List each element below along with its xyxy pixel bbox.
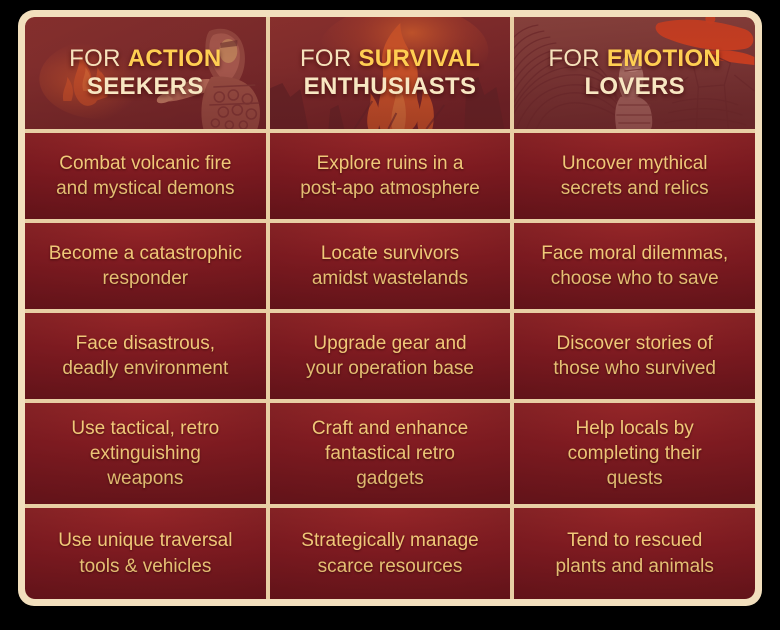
cell-survival-2[interactable]: Locate survivorsamidst wastelands (270, 223, 511, 309)
cell-survival-4[interactable]: Craft and enhancefantastical retrogadget… (270, 403, 511, 504)
column-header-action-title: FOR ACTION SEEKERS (61, 45, 229, 102)
cell-action-3[interactable]: Face disastrous,deadly environment (25, 313, 266, 399)
cell-text: Help locals bycompleting theirquests (556, 412, 714, 495)
cell-text: Use tactical, retroextinguishingweapons (59, 412, 231, 495)
cell-emotion-2[interactable]: Face moral dilemmas,choose who to save (514, 223, 755, 309)
cell-emotion-3[interactable]: Discover stories ofthose who survived (514, 313, 755, 399)
cell-survival-5[interactable]: Strategically managescarce resources (270, 508, 511, 599)
table-header-row: FOR ACTION SEEKERS (25, 17, 755, 129)
cell-text: Tend to rescuedplants and animals (543, 524, 725, 582)
cell-text: Use unique traversaltools & vehicles (46, 524, 244, 582)
header-secondline-action: SEEKERS (69, 73, 221, 101)
header-lead-survival: FOR (300, 45, 359, 72)
header-keyword-emotion: EMOTION (607, 45, 721, 72)
cell-action-5[interactable]: Use unique traversaltools & vehicles (25, 508, 266, 599)
cell-text: Upgrade gear andyour operation base (294, 327, 486, 385)
header-lead-action: FOR (69, 45, 128, 72)
header-secondline-emotion: LOVERS (548, 73, 721, 101)
cell-text: Face moral dilemmas,choose who to save (529, 237, 740, 295)
cell-survival-3[interactable]: Upgrade gear andyour operation base (270, 313, 511, 399)
column-header-action[interactable]: FOR ACTION SEEKERS (25, 17, 266, 129)
cell-text: Craft and enhancefantastical retrogadget… (300, 412, 480, 495)
cell-action-4[interactable]: Use tactical, retroextinguishingweapons (25, 403, 266, 504)
comparison-table: FOR ACTION SEEKERS (25, 17, 755, 599)
cell-text: Become a catastrophicresponder (37, 237, 254, 295)
cell-action-1[interactable]: Combat volcanic fireand mystical demons (25, 133, 266, 219)
header-secondline-survival: ENTHUSIASTS (300, 73, 480, 101)
cell-survival-1[interactable]: Explore ruins in apost-apo atmosphere (270, 133, 511, 219)
cell-emotion-1[interactable]: Uncover mythicalsecrets and relics (514, 133, 755, 219)
table-row: Combat volcanic fireand mystical demons … (25, 133, 755, 219)
column-header-survival[interactable]: FOR SURVIVAL ENTHUSIASTS (270, 17, 511, 129)
cell-text: Strategically managescarce resources (289, 524, 490, 582)
poster-frame: FOR ACTION SEEKERS (18, 10, 762, 606)
table-row: Use unique traversaltools & vehicles Str… (25, 508, 755, 599)
header-keyword-survival: SURVIVAL (359, 45, 481, 72)
column-header-emotion-title: FOR EMOTION LOVERS (540, 45, 729, 102)
cell-text: Locate survivorsamidst wastelands (300, 237, 480, 295)
cell-text: Face disastrous,deadly environment (50, 327, 240, 385)
cell-text: Explore ruins in apost-apo atmosphere (288, 147, 492, 205)
screenshot-root: FOR ACTION SEEKERS (0, 0, 780, 630)
column-header-emotion[interactable]: FOR EMOTION LOVERS (514, 17, 755, 129)
header-lead-emotion: FOR (548, 45, 607, 72)
cell-text: Uncover mythicalsecrets and relics (549, 147, 721, 205)
table-row: Face disastrous,deadly environment Upgra… (25, 313, 755, 399)
cell-text: Discover stories ofthose who survived (541, 327, 728, 385)
table-row: Use tactical, retroextinguishingweapons … (25, 403, 755, 504)
header-keyword-action: ACTION (128, 45, 222, 72)
table-row: Become a catastrophicresponder Locate su… (25, 223, 755, 309)
cell-action-2[interactable]: Become a catastrophicresponder (25, 223, 266, 309)
column-header-survival-title: FOR SURVIVAL ENTHUSIASTS (292, 45, 488, 102)
cell-text: Combat volcanic fireand mystical demons (44, 147, 246, 205)
cell-emotion-4[interactable]: Help locals bycompleting theirquests (514, 403, 755, 504)
cell-emotion-5[interactable]: Tend to rescuedplants and animals (514, 508, 755, 599)
